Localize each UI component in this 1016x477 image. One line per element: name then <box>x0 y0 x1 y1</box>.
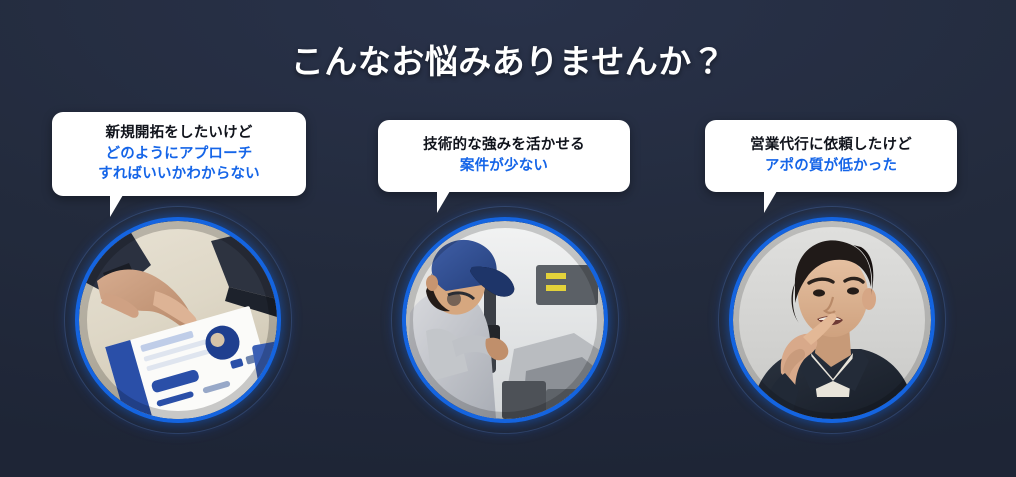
worried-worker-portrait-photo <box>733 221 931 419</box>
bubble-2-line-1: 技術的な強みを活かせる <box>423 135 585 156</box>
bubble-1-line-1: 新規開拓をしたいけど <box>106 123 253 144</box>
speech-bubble-2: 技術的な強みを活かせる 案件が少ない <box>378 120 630 192</box>
speech-bubble-3: 営業代行に依頼したけど アポの質が低かった <box>705 120 957 192</box>
photo-circle-1-ring <box>75 217 281 423</box>
hand-pointing-at-brochure-photo <box>79 221 277 419</box>
photo-circle-3-ring <box>729 217 935 423</box>
bubble-3-line-2: アポの質が低かった <box>765 156 897 177</box>
section-heading: こんなお悩みありませんか？ <box>0 42 1016 82</box>
photo-circle-2-ring <box>402 217 608 423</box>
bubble-3-line-1: 営業代行に依頼したけど <box>750 135 912 156</box>
photo-circle-1 <box>64 206 292 434</box>
bubble-1-line-3: すればいいかわからない <box>98 164 260 185</box>
bubble-1-line-2: どのようにアプローチ <box>106 144 253 165</box>
problem-section: こんなお悩みありませんか？ 新規開拓をしたいけど どのようにアプローチ すればい… <box>0 0 1016 477</box>
bubble-2-line-2: 案件が少ない <box>460 156 548 177</box>
photo-circle-3 <box>718 206 946 434</box>
photo-circle-2 <box>391 206 619 434</box>
speech-bubble-1: 新規開拓をしたいけど どのようにアプローチ すればいいかわからない <box>52 112 306 196</box>
technician-at-machine-photo <box>406 221 604 419</box>
